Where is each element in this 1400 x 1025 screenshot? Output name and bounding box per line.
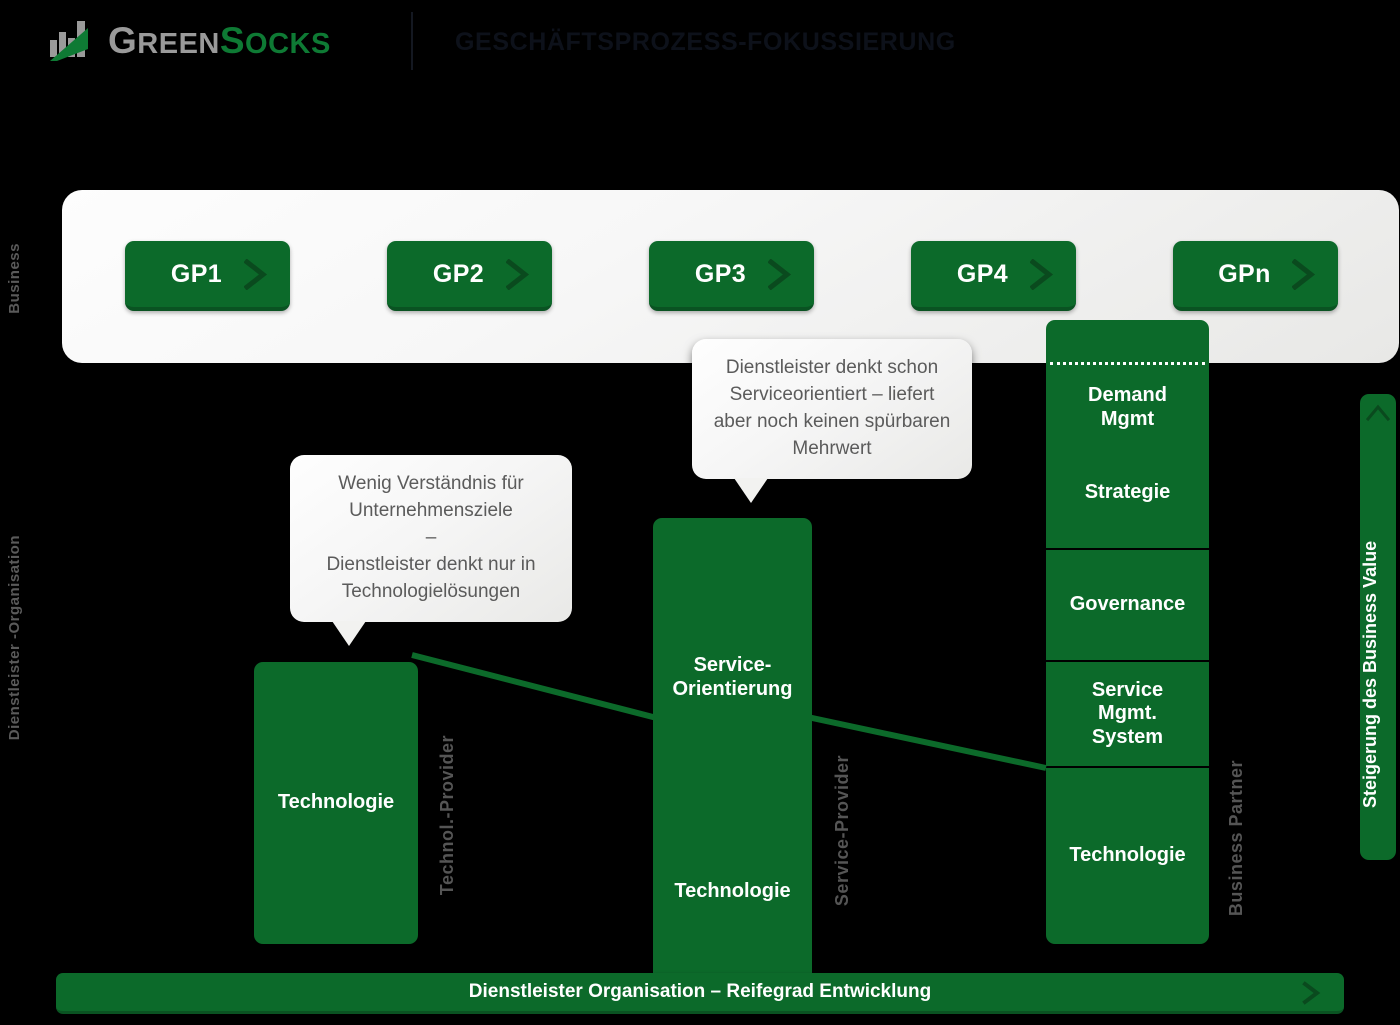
axis-label-business: Business bbox=[6, 243, 23, 314]
callout-tail bbox=[332, 621, 366, 646]
process-button-label: GP2 bbox=[433, 260, 484, 289]
process-button-label: GP4 bbox=[957, 260, 1008, 289]
stage-label-technol-provider: Technol.-Provider bbox=[437, 735, 458, 895]
chevron-right-icon bbox=[768, 259, 792, 295]
maturity-block-technologie-stage3: Technologie bbox=[1046, 768, 1209, 944]
bar-chart-icon bbox=[48, 18, 100, 63]
diagram-canvas: GREENSOCKS GESCHÄFTSPROZESS-FOKUSSIERUNG… bbox=[0, 0, 1400, 1025]
callout-text: Wenig Verständnis für Unternehmensziele … bbox=[308, 471, 554, 606]
process-button-label: GP3 bbox=[695, 260, 746, 289]
process-button-gp4[interactable]: GP4 bbox=[911, 241, 1076, 311]
chevron-right-icon bbox=[506, 259, 530, 295]
panel-clip-dotted-line bbox=[1050, 362, 1205, 365]
process-button-gpn[interactable]: GPn bbox=[1173, 241, 1338, 311]
chevron-right-icon bbox=[1292, 259, 1316, 295]
maturity-block-service-mgmt-system: Service Mgmt. System bbox=[1046, 662, 1209, 766]
stage-label-service-provider: Service-Provider bbox=[832, 755, 853, 906]
brand-wordmark: GREENSOCKS bbox=[108, 22, 331, 59]
maturity-block-technologie-stage1: Technologie bbox=[254, 662, 418, 944]
process-button-gp3[interactable]: GP3 bbox=[649, 241, 814, 311]
header-divider bbox=[411, 12, 413, 70]
maturity-block-technologie-stage2: Technologie bbox=[653, 720, 812, 1004]
callout-technology-provider: Wenig Verständnis für Unternehmensziele … bbox=[290, 455, 572, 622]
business-value-label: Steigerung des Business Value bbox=[1360, 494, 1396, 854]
callout-text: Dienstleister denkt schon Serviceorienti… bbox=[710, 355, 954, 463]
axis-label-dienstleister-organisation: Dienstleister -Organisation bbox=[6, 535, 23, 740]
callout-service-provider: Dienstleister denkt schon Serviceorienti… bbox=[692, 339, 972, 479]
chevron-up-icon bbox=[1366, 404, 1390, 427]
chevron-right-icon bbox=[244, 259, 268, 295]
process-button-gp1[interactable]: GP1 bbox=[125, 241, 290, 311]
callout-tail bbox=[734, 478, 768, 503]
process-button-gp2[interactable]: GP2 bbox=[387, 241, 552, 311]
maturity-block-governance: Governance bbox=[1046, 550, 1209, 660]
chevron-right-icon bbox=[1030, 259, 1054, 295]
page-title: GESCHÄFTSPROZESS-FOKUSSIERUNG bbox=[455, 28, 956, 57]
brand-logo: GREENSOCKS bbox=[48, 18, 331, 63]
process-button-label: GP1 bbox=[171, 260, 222, 289]
footer-banner-label: Dienstleister Organisation – Reifegrad E… bbox=[469, 981, 931, 1003]
process-button-label: GPn bbox=[1218, 260, 1271, 289]
maturity-block-strategie: Strategie bbox=[1046, 438, 1209, 548]
footer-banner[interactable]: Dienstleister Organisation – Reifegrad E… bbox=[56, 973, 1344, 1014]
chevron-right-icon bbox=[1302, 981, 1322, 1011]
stage-label-business-partner: Business Partner bbox=[1226, 760, 1247, 916]
business-value-bar: Steigerung des Business Value bbox=[1360, 394, 1396, 860]
